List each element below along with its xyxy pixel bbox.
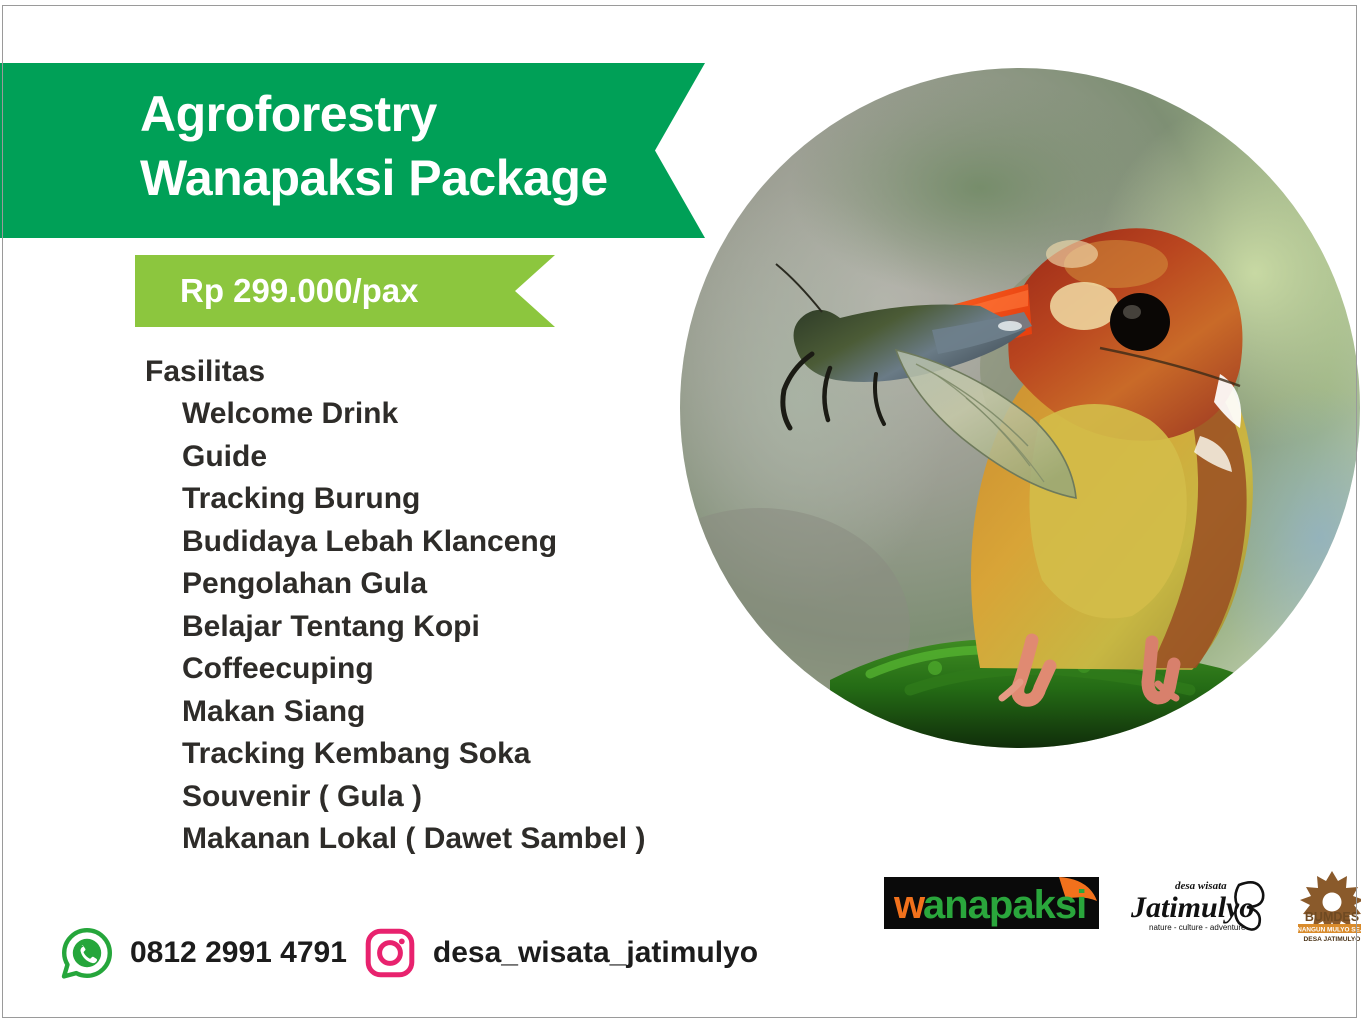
title-ribbon: Agroforestry Wanapaksi Package — [0, 63, 705, 238]
jatimulyo-tagline: nature - culture - adventure — [1149, 923, 1246, 932]
poster-canvas: Agroforestry Wanapaksi Package Rp 299.00… — [0, 0, 1361, 1024]
facility-item: Tracking Burung — [182, 478, 645, 521]
facility-item: Budidaya Lebah Klanceng — [182, 521, 645, 564]
facility-item: Coffeecuping — [182, 648, 645, 691]
bumdes-village: DESA JATIMULYO — [1304, 936, 1361, 943]
whatsapp-number[interactable]: 0812 2991 4791 — [130, 936, 347, 970]
kingfisher-photo — [680, 68, 1360, 748]
facility-item: Guide — [182, 436, 645, 479]
facility-item: Welcome Drink — [182, 393, 645, 436]
jatimulyo-logo: desa wisata Jatimulyo nature - culture -… — [1127, 871, 1267, 937]
wanapaksi-wordmark: anapaksi — [923, 883, 1086, 927]
facility-item: Makanan Lokal ( Dawet Sambel ) — [182, 818, 645, 861]
facility-item: Souvenir ( Gula ) — [182, 776, 645, 819]
facilities-heading: Fasilitas — [145, 351, 645, 393]
wanapaksi-w-accent: w — [893, 883, 926, 927]
facility-item: Makan Siang — [182, 691, 645, 734]
poster-title-line2: Wanapaksi Package — [140, 146, 608, 210]
bumdes-logo: BUMDES BINANGUN MULYO SEJATI DESA JATIMU… — [1293, 865, 1361, 943]
kingfisher-photo-illustration — [680, 68, 1360, 748]
bird-eye — [1110, 293, 1170, 351]
facilities-list: Welcome Drink Guide Tracking Burung Budi… — [145, 393, 645, 861]
price-ribbon: Rp 299.000/pax — [135, 255, 555, 327]
facility-item: Pengolahan Gula — [182, 563, 645, 606]
poster-title-line1: Agroforestry — [140, 82, 437, 146]
instagram-icon[interactable] — [365, 928, 415, 978]
facility-item: Tracking Kembang Soka — [182, 733, 645, 776]
price-label: Rp 299.000/pax — [180, 272, 418, 310]
instagram-handle[interactable]: desa_wisata_jatimulyo — [433, 936, 758, 970]
partner-logos: w anapaksi desa wisata Jatimulyo nature … — [884, 865, 1361, 943]
facilities-section: Fasilitas Welcome Drink Guide Tracking B… — [145, 351, 645, 861]
contact-bar: 0812 2991 4791 desa_wisata_jatimulyo — [60, 926, 758, 980]
bumdes-name: BUMDES — [1305, 910, 1359, 924]
wanapaksi-logo: w anapaksi — [884, 875, 1099, 933]
facility-item: Belajar Tentang Kopi — [182, 606, 645, 649]
bumdes-banner: BINANGUN MULYO SEJATI — [1293, 926, 1361, 933]
whatsapp-icon[interactable] — [60, 926, 114, 980]
